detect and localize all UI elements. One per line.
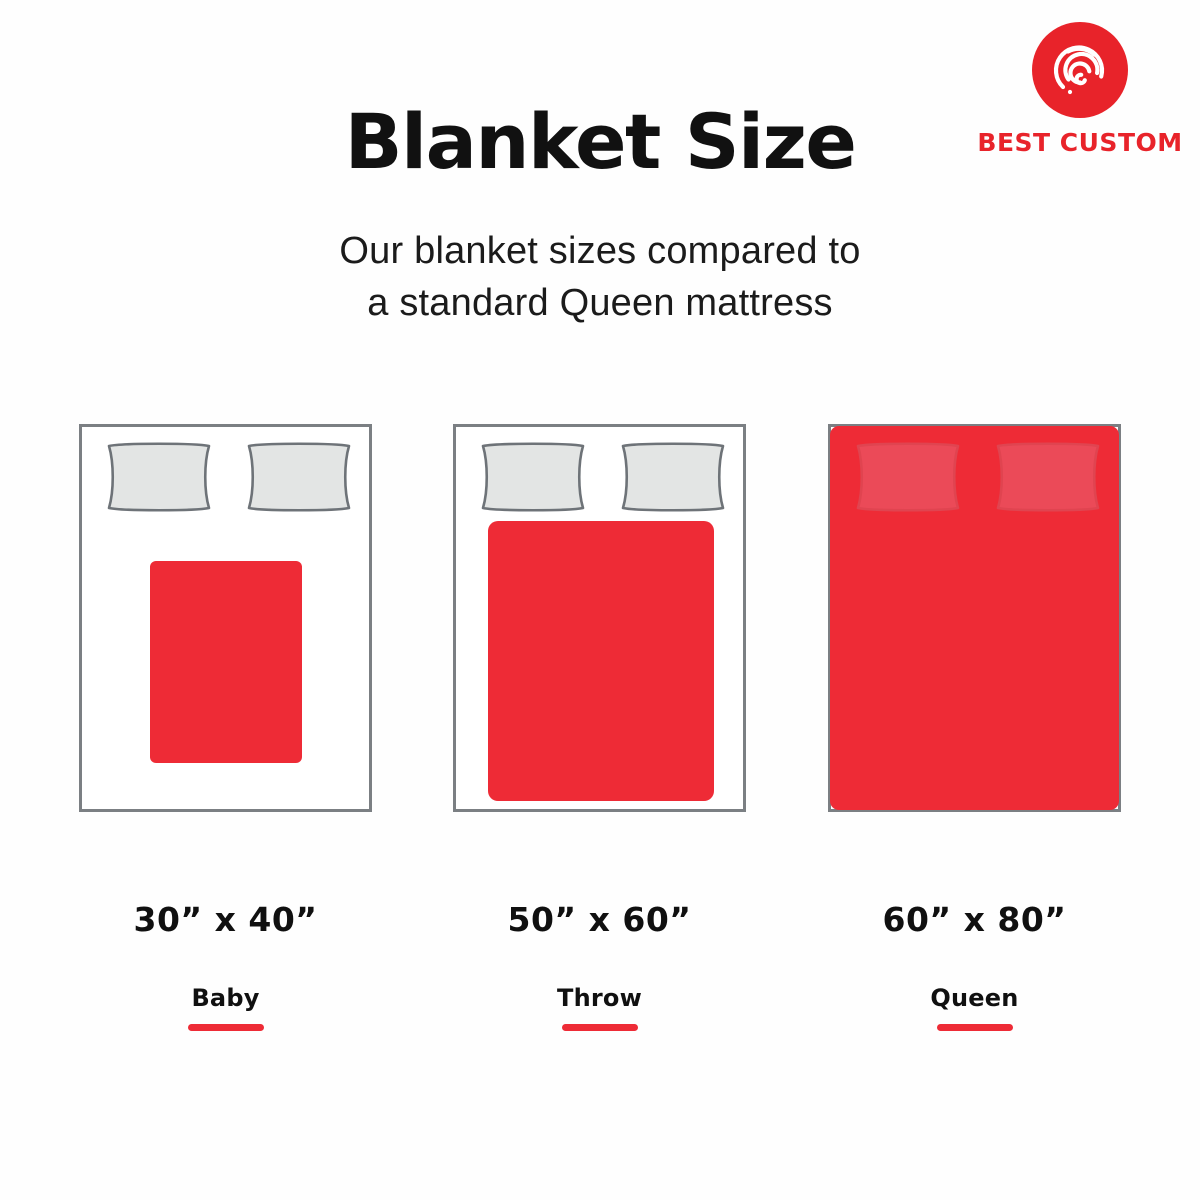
mattress-outline bbox=[828, 424, 1121, 812]
tier-label: Throw bbox=[453, 984, 746, 1012]
dimensions-label: 60” x 80” bbox=[828, 900, 1121, 939]
page-title: Blanket Size bbox=[0, 104, 1200, 180]
subtitle-line-1: Our blanket sizes compared to bbox=[0, 226, 1200, 278]
mattress-outline bbox=[453, 424, 746, 812]
bed-diagram-throw bbox=[453, 424, 746, 812]
pillow-icon bbox=[854, 441, 962, 513]
accent-underline bbox=[562, 1024, 638, 1031]
accent-underline bbox=[937, 1024, 1013, 1031]
pillow-icon bbox=[619, 441, 727, 513]
subtitle-line-2: a standard Queen mattress bbox=[0, 278, 1200, 330]
accent-underline bbox=[188, 1024, 264, 1031]
blanket-swatch-throw bbox=[488, 521, 714, 801]
tier-label: Queen bbox=[828, 984, 1121, 1012]
tier-label: Baby bbox=[79, 984, 372, 1012]
page-subtitle: Our blanket sizes compared to a standard… bbox=[0, 226, 1200, 329]
pillow-icon bbox=[479, 441, 587, 513]
size-caption-throw: 50” x 60” Throw bbox=[453, 900, 746, 1031]
pillow-icon bbox=[105, 441, 213, 513]
dimensions-label: 50” x 60” bbox=[453, 900, 746, 939]
pillow-icon bbox=[245, 441, 353, 513]
blanket-swatch-baby bbox=[150, 561, 302, 763]
dimensions-label: 30” x 40” bbox=[79, 900, 372, 939]
bed-diagram-baby bbox=[79, 424, 372, 812]
bed-diagram-queen bbox=[828, 424, 1121, 812]
blanket-size-infographic: BEST CUSTOM Blanket Size Our blanket siz… bbox=[0, 0, 1200, 1200]
pillow-icon bbox=[994, 441, 1102, 513]
blanket-swatch-queen bbox=[830, 426, 1119, 810]
size-caption-baby: 30” x 40” Baby bbox=[79, 900, 372, 1031]
mattress-outline bbox=[79, 424, 372, 812]
size-caption-queen: 60” x 80” Queen bbox=[828, 900, 1121, 1031]
